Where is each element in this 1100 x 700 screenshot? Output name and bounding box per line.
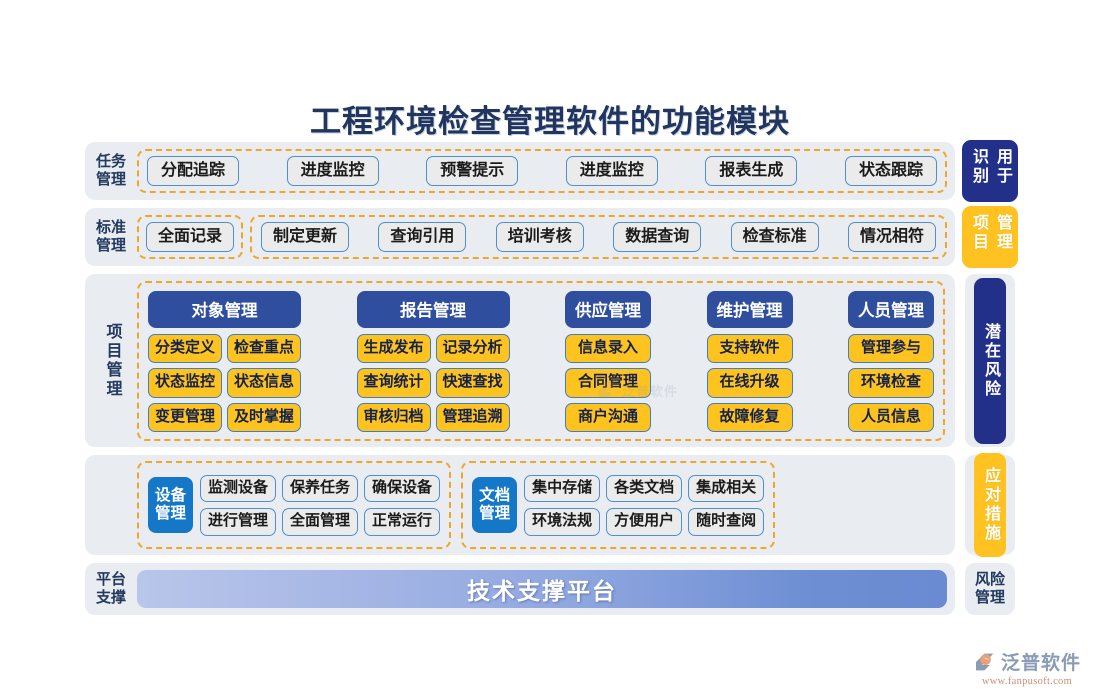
- device-label: 设备管理: [148, 477, 193, 534]
- project-item-2-0[interactable]: 信息录入: [565, 334, 651, 364]
- row-platform-support: 平台 支撑 技术支撑平台: [85, 563, 955, 615]
- project-group-body-2: 信息录入合同管理商户沟通: [565, 334, 651, 433]
- brand-name: 泛普软件: [1001, 648, 1081, 675]
- project-group-col-2-0: 信息录入合同管理商户沟通: [565, 334, 651, 433]
- device-chip-0-1[interactable]: 进行管理: [200, 508, 276, 536]
- task-chip-0[interactable]: 分配追踪: [147, 156, 239, 187]
- task-chip-4[interactable]: 报表生成: [705, 156, 797, 187]
- sidebar-footer-line2: 管理: [975, 589, 1005, 606]
- standard-chip-b-1[interactable]: 查询引用: [378, 222, 466, 253]
- project-item-4-2[interactable]: 人员信息: [848, 403, 934, 433]
- document-label: 文档管理: [472, 477, 517, 534]
- project-group-col-0-1: 检查重点状态信息及时掌握: [227, 334, 301, 433]
- device-grid: 监测设备进行管理保养任务全面管理确保设备正常运行: [200, 475, 440, 536]
- standard-second-box: 制定更新查询引用培训考核数据查询检查标准情况相符: [250, 215, 947, 259]
- project-item-4-0[interactable]: 管理参与: [848, 334, 934, 364]
- sidebar-footer-line1: 风险: [975, 571, 1005, 588]
- standard-chip-b-3[interactable]: 数据查询: [613, 222, 701, 253]
- sidebar-panel-4: 风险管理: [965, 563, 1015, 615]
- device-chip-2-1[interactable]: 正常运行: [364, 508, 440, 536]
- project-item-2-2[interactable]: 商户沟通: [565, 403, 651, 433]
- project-item-1-0[interactable]: 生成发布: [357, 334, 431, 364]
- standard-chip-b-2[interactable]: 培训考核: [496, 222, 584, 253]
- row-project-management: 项目管理 对象管理分类定义状态监控变更管理检查重点状态信息及时掌握报告管理生成发…: [85, 274, 955, 447]
- sidebar-pill-1[interactable]: 管理项目: [962, 206, 1018, 268]
- device-chip-0-0[interactable]: 监测设备: [200, 475, 276, 503]
- right-sidebar: 用于识别管理项目潜在风险应对措施风险管理: [965, 142, 1015, 622]
- row-label-standard-line1: 标准: [96, 219, 126, 236]
- document-chip-0-1[interactable]: 环境法规: [524, 508, 600, 536]
- diagram-stage: 任务 管理 分配追踪进度监控预警提示进度监控报表生成状态跟踪 标准 管理 全面记…: [85, 142, 1015, 622]
- project-group-col-3-0: 支持软件在线升级故障修复: [707, 334, 793, 433]
- document-chip-2-1[interactable]: 随时查阅: [688, 508, 764, 536]
- sidebar-panel-2: 潜在风险: [965, 274, 1015, 447]
- project-item-2-1[interactable]: 合同管理: [565, 368, 651, 398]
- task-items-box: 分配追踪进度监控预警提示进度监控报表生成状态跟踪: [137, 149, 947, 193]
- standard-chip-b-0[interactable]: 制定更新: [261, 222, 349, 253]
- project-group-col-1-0: 生成发布查询统计审核归档: [357, 334, 431, 433]
- device-chip-2-0[interactable]: 确保设备: [364, 475, 440, 503]
- row-label-platform-line2: 支撑: [96, 589, 126, 606]
- project-item-1-5[interactable]: 管理追溯: [436, 403, 510, 433]
- document-chip-1-1[interactable]: 方便用户: [606, 508, 682, 536]
- fanpu-mark-icon: [973, 650, 997, 674]
- document-col-0: 集中存储环境法规: [524, 475, 600, 536]
- device-label-line2: 管理: [155, 505, 186, 522]
- project-item-0-4[interactable]: 变更管理: [148, 403, 222, 433]
- project-item-4-1[interactable]: 环境检查: [848, 368, 934, 398]
- row-task-management: 任务 管理 分配追踪进度监控预警提示进度监控报表生成状态跟踪: [85, 142, 955, 200]
- project-group-body-3: 支持软件在线升级故障修复: [707, 334, 793, 433]
- project-item-1-1[interactable]: 记录分析: [436, 334, 510, 364]
- project-group-body-4: 管理参与环境检查人员信息: [848, 334, 934, 433]
- device-management-box: 设备管理监测设备进行管理保养任务全面管理确保设备正常运行: [137, 461, 451, 549]
- brand-logo: 泛普软件 www.fanpusoft.com: [962, 648, 1092, 692]
- project-group-body-1: 生成发布查询统计审核归档记录分析快速查找管理追溯: [357, 334, 510, 433]
- device-chip-1-0[interactable]: 保养任务: [282, 475, 358, 503]
- row-label-project: 项目管理: [85, 296, 137, 426]
- sidebar-pill-3[interactable]: 应对措施: [974, 453, 1006, 557]
- sidebar-pill-2[interactable]: 潜在风险: [974, 278, 1006, 444]
- brand-url: www.fanpusoft.com: [982, 676, 1072, 687]
- document-management-box: 文档管理集中存储环境法规各类文档方便用户集成相关随时查阅: [461, 461, 775, 549]
- standard-chip-a-0[interactable]: 全面记录: [146, 222, 234, 253]
- project-group-0: 对象管理分类定义状态监控变更管理检查重点状态信息及时掌握: [148, 291, 301, 433]
- document-col-1: 各类文档方便用户: [606, 475, 682, 536]
- standard-chip-b-4[interactable]: 检查标准: [731, 222, 819, 253]
- standard-first-box: 全面记录: [137, 215, 243, 259]
- project-item-1-3[interactable]: 快速查找: [436, 368, 510, 398]
- sidebar-panel-0: 用于识别: [965, 142, 1015, 200]
- row-label-task-line2: 管理: [96, 171, 126, 188]
- project-group-col-1-1: 记录分析快速查找管理追溯: [436, 334, 510, 433]
- document-label-line1: 文档: [479, 487, 510, 504]
- task-chip-3[interactable]: 进度监控: [566, 156, 658, 187]
- project-group-head-4[interactable]: 人员管理: [848, 291, 934, 328]
- document-label-line2: 管理: [479, 505, 510, 522]
- device-col-1: 保养任务全面管理: [282, 475, 358, 536]
- project-group-head-0[interactable]: 对象管理: [148, 291, 301, 328]
- row-label-task-line1: 任务: [96, 153, 126, 170]
- project-group-2: 供应管理信息录入合同管理商户沟通: [565, 291, 651, 433]
- project-item-0-2[interactable]: 状态监控: [148, 368, 222, 398]
- document-col-2: 集成相关随时查阅: [688, 475, 764, 536]
- row-label-standard-line2: 管理: [96, 237, 126, 254]
- row-standard-management: 标准 管理 全面记录 制定更新查询引用培训考核数据查询检查标准情况相符: [85, 208, 955, 266]
- project-group-3: 维护管理支持软件在线升级故障修复: [707, 291, 793, 433]
- project-group-body-0: 分类定义状态监控变更管理检查重点状态信息及时掌握: [148, 334, 301, 433]
- project-item-0-1[interactable]: 检查重点: [227, 334, 301, 364]
- project-group-col-0-0: 分类定义状态监控变更管理: [148, 334, 222, 433]
- row-label-platform-line1: 平台: [96, 571, 126, 588]
- row-label-platform: 平台 支撑: [85, 571, 137, 606]
- row-label-task: 任务 管理: [85, 153, 137, 188]
- sidebar-panel-1: 管理项目: [965, 208, 1015, 266]
- sidebar-pill-0[interactable]: 用于识别: [962, 140, 1018, 202]
- sidebar-footer-label: 风险管理: [975, 571, 1005, 607]
- row-device-document: 设备管理监测设备进行管理保养任务全面管理确保设备正常运行 文档管理集中存储环境法…: [85, 455, 955, 555]
- project-item-0-3[interactable]: 状态信息: [227, 368, 301, 398]
- device-col-2: 确保设备正常运行: [364, 475, 440, 536]
- device-label-line1: 设备: [155, 487, 186, 504]
- page-title: 工程环境检查管理软件的功能模块: [0, 96, 1100, 141]
- sidebar-panel-3: 应对措施: [965, 455, 1015, 555]
- project-item-1-2[interactable]: 查询统计: [357, 368, 431, 398]
- document-chip-2-0[interactable]: 集成相关: [688, 475, 764, 503]
- device-col-0: 监测设备进行管理: [200, 475, 276, 536]
- project-groups-box: 对象管理分类定义状态监控变更管理检查重点状态信息及时掌握报告管理生成发布查询统计…: [137, 281, 945, 441]
- project-group-head-2[interactable]: 供应管理: [565, 291, 651, 328]
- project-item-3-1[interactable]: 在线升级: [707, 368, 793, 398]
- project-group-col-4-0: 管理参与环境检查人员信息: [848, 334, 934, 433]
- project-item-0-0[interactable]: 分类定义: [148, 334, 222, 364]
- project-group-head-3[interactable]: 维护管理: [707, 291, 793, 328]
- row-label-standard: 标准 管理: [85, 219, 137, 254]
- task-chip-5[interactable]: 状态跟踪: [845, 156, 937, 187]
- project-item-1-4[interactable]: 审核归档: [357, 403, 431, 433]
- document-chip-1-0[interactable]: 各类文档: [606, 475, 682, 503]
- project-group-head-1[interactable]: 报告管理: [357, 291, 510, 328]
- document-chip-0-0[interactable]: 集中存储: [524, 475, 600, 503]
- technical-support-platform-bar[interactable]: 技术支撑平台: [137, 570, 947, 608]
- device-chip-1-1[interactable]: 全面管理: [282, 508, 358, 536]
- task-chip-1[interactable]: 进度监控: [287, 156, 379, 187]
- document-grid: 集中存储环境法规各类文档方便用户集成相关随时查阅: [524, 475, 764, 536]
- task-chip-2[interactable]: 预警提示: [426, 156, 518, 187]
- project-item-0-5[interactable]: 及时掌握: [227, 403, 301, 433]
- standard-chip-b-5[interactable]: 情况相符: [848, 222, 936, 253]
- project-item-3-0[interactable]: 支持软件: [707, 334, 793, 364]
- project-item-3-2[interactable]: 故障修复: [707, 403, 793, 433]
- brand-logo-top: 泛普软件: [973, 648, 1081, 675]
- project-group-1: 报告管理生成发布查询统计审核归档记录分析快速查找管理追溯: [357, 291, 510, 433]
- project-group-4: 人员管理管理参与环境检查人员信息: [848, 291, 934, 433]
